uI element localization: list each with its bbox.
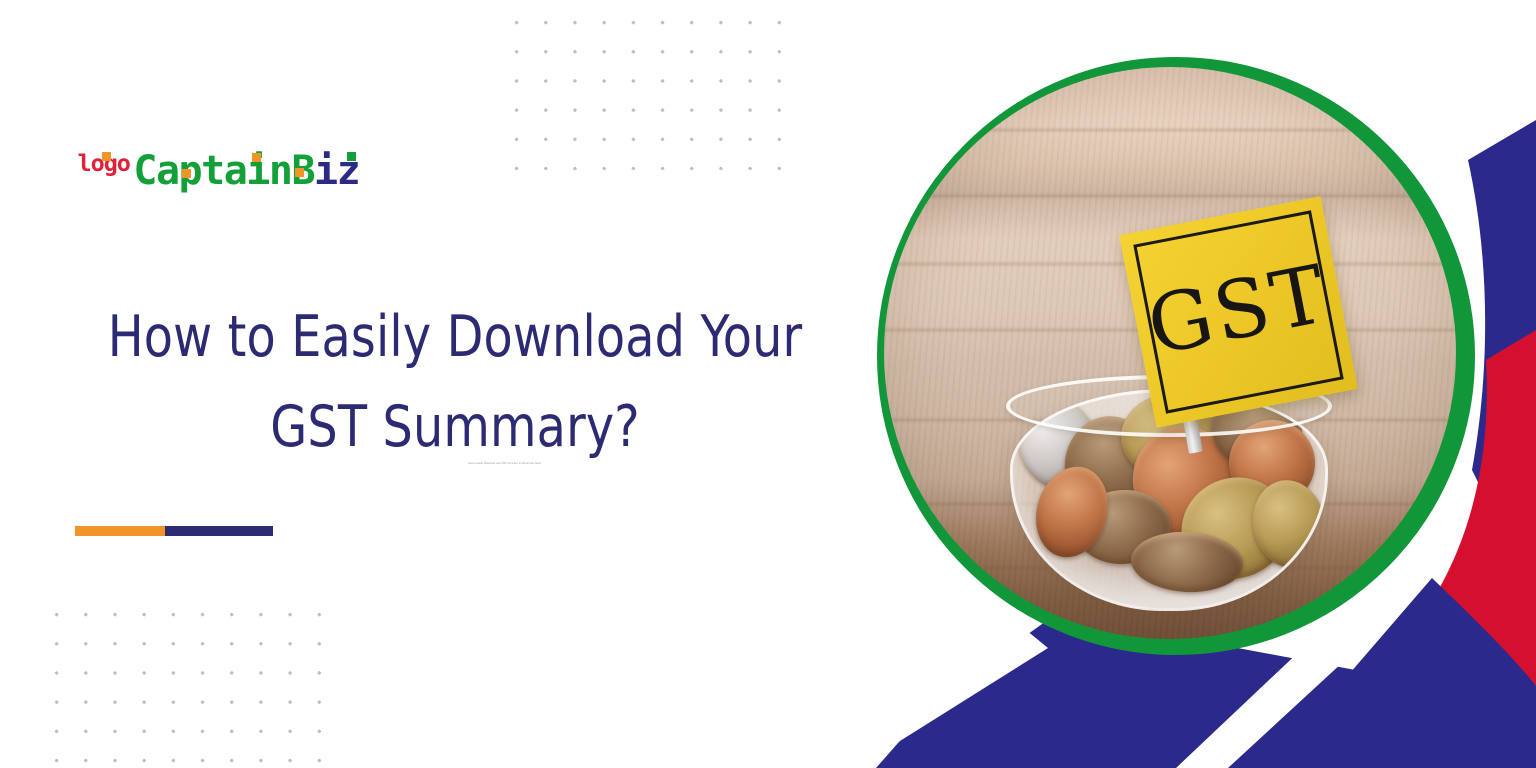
page-title-line-2: GST Summary?	[270, 394, 640, 460]
logo-pixel-accent-icon	[252, 153, 261, 162]
logo-pixel-accent-icon	[182, 169, 191, 178]
logo-pixel-accent-icon	[295, 168, 304, 177]
brand-name-green: CaptainB	[133, 148, 314, 194]
dot-pattern-bottom	[42, 600, 332, 765]
divider-segment-orange	[75, 526, 165, 536]
page-title-line-1: How to Easily Download Your	[108, 304, 803, 370]
micro-caption: how to easily download your GST summary …	[447, 462, 562, 465]
divider-segment-navy	[165, 526, 273, 536]
page-title: How to Easily Download Your GST Summary?	[88, 292, 823, 472]
logo-pixel-accent-icon	[102, 152, 111, 161]
gst-sticky-note: GST	[1119, 196, 1358, 428]
logo-pixel-accent-icon	[347, 152, 356, 161]
dot-pattern-top	[502, 8, 787, 170]
hero-photo: GST	[884, 67, 1456, 639]
banner-canvas: logo CaptainBiz How to Easily Download Y…	[0, 0, 1536, 768]
hero-artwork: GST	[876, 0, 1536, 768]
brand-name: CaptainBiz	[133, 151, 359, 191]
accent-divider	[75, 526, 273, 536]
brand-logo[interactable]: logo CaptainBiz	[78, 143, 359, 199]
